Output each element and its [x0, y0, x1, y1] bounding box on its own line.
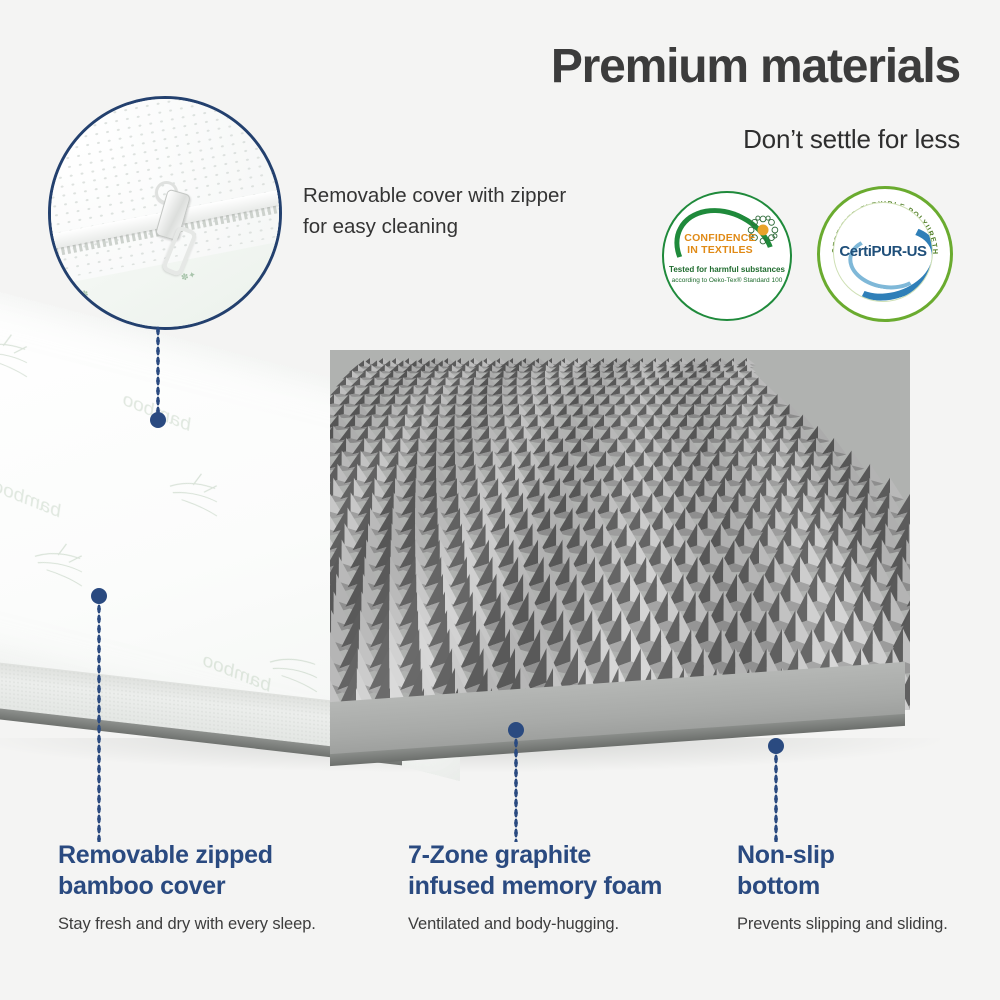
oeko-confidence-text: CONFIDENCE IN TEXTILES — [672, 233, 768, 257]
callout-dot-zipper — [150, 412, 166, 428]
oeko-confidence-line1: CONFIDENCE — [684, 232, 755, 244]
oeko-confidence-line2: IN TEXTILES — [687, 244, 753, 256]
mattress-illustration: bamboo bamboo bamboo bamboo bamboo — [0, 330, 1000, 770]
svg-text:bamboo: bamboo — [0, 476, 62, 523]
feature-bamboo-cover: Removable zipped bamboo cover Stay fresh… — [58, 840, 388, 934]
callout-dot-bamboo-cover — [91, 588, 107, 604]
oeko-subtext-1: Tested for harmful substances — [668, 265, 786, 274]
zipper-callout-text: Removable cover with zipper for easy cle… — [303, 180, 633, 242]
zipper-detail-circle: ✽✦ ✽✦ ✽ ✦✽ — [48, 96, 282, 330]
callout-dot-memory-foam — [508, 722, 524, 738]
certipur-us-badge: CONTAINS CERTIFIED FLEXIBLE POLYURETHANE… — [817, 186, 953, 322]
feature-description: Prevents slipping and sliding. — [737, 915, 987, 934]
feature-title-line1: Removable zipped — [58, 841, 273, 869]
feature-memory-foam: 7-Zone graphite infused memory foam Vent… — [408, 840, 708, 934]
leader-line-non-slip — [774, 754, 778, 842]
feature-callouts: Removable zipped bamboo cover Stay fresh… — [0, 840, 1000, 1000]
oeko-tex-badge: CONFIDENCE IN TEXTILES Tested for harmfu… — [662, 191, 792, 321]
leader-line-memory-foam — [514, 738, 518, 842]
feature-description: Ventilated and body-hugging. — [408, 915, 708, 934]
feature-non-slip: Non-slip bottom Prevents slipping and sl… — [737, 840, 987, 934]
feature-title: Non-slip bottom — [737, 840, 987, 901]
feature-title: Removable zipped bamboo cover — [58, 840, 388, 901]
feature-title-line2: infused memory foam — [408, 872, 662, 900]
egg-crate-foam-surface — [330, 350, 910, 710]
feature-description: Stay fresh and dry with every sleep. — [58, 915, 388, 934]
leader-line-zipper — [156, 326, 160, 416]
page-title: Premium materials — [400, 42, 960, 92]
feature-title-line2: bamboo cover — [58, 872, 225, 900]
leader-line-bamboo-cover — [97, 604, 101, 842]
callout-dot-non-slip — [768, 738, 784, 754]
feature-title: 7-Zone graphite infused memory foam — [408, 840, 708, 901]
feature-title-line2: bottom — [737, 872, 820, 900]
certipur-inner-disc: CertiPUR-US — [833, 202, 933, 302]
feature-title-line1: 7-Zone graphite — [408, 841, 591, 869]
oeko-subtext-2: according to Oeko-Tex® Standard 100 — [668, 277, 786, 284]
zipper-callout-line2: for easy cleaning — [303, 215, 458, 238]
page-subtitle: Don’t settle for less — [400, 124, 960, 155]
certification-badges: CONFIDENCE IN TEXTILES Tested for harmfu… — [662, 186, 962, 316]
certipur-wordmark: CertiPUR-US — [834, 243, 932, 260]
zipper-callout-line1: Removable cover with zipper — [303, 184, 566, 207]
infographic-canvas: Premium materials Don’t settle for less … — [0, 0, 1000, 1000]
feature-title-line1: Non-slip — [737, 841, 835, 869]
